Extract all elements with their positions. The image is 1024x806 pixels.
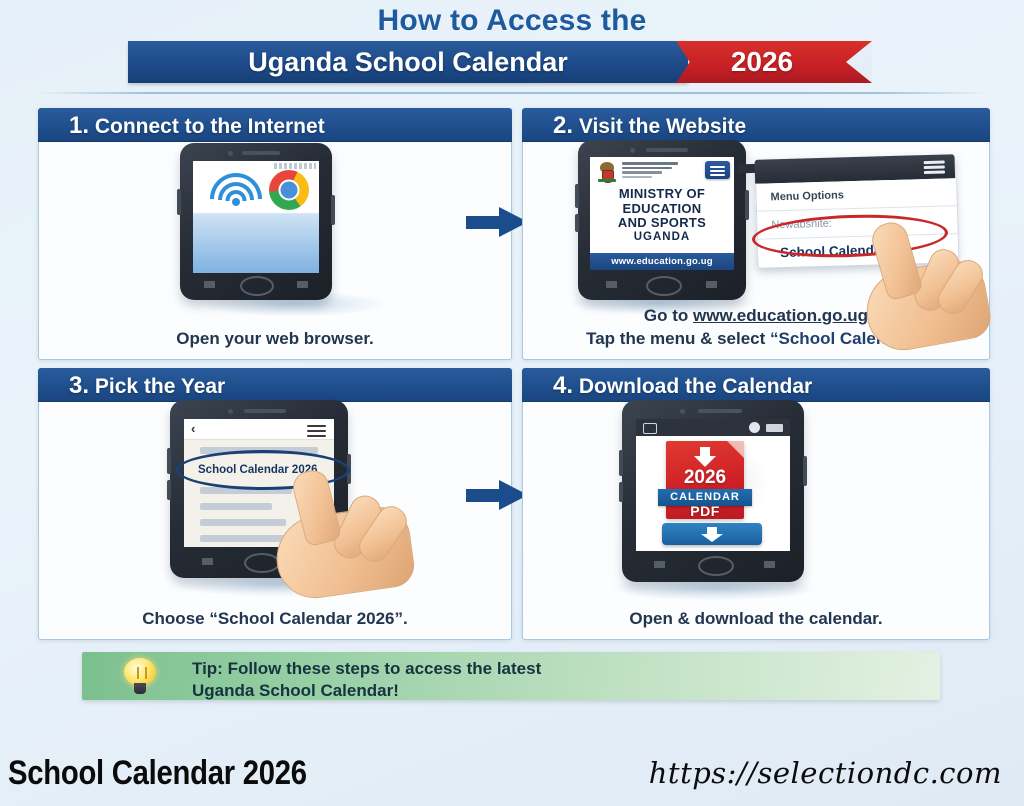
phone-back-nav-icon: [606, 281, 617, 288]
step-1-title-text: Connect to the Internet: [89, 115, 325, 138]
back-chevron-icon[interactable]: ‹: [191, 423, 195, 435]
list-placeholder-row: [200, 503, 272, 510]
phone-recent-nav-icon: [764, 561, 775, 568]
phone-power-button: [331, 195, 335, 225]
phone-camera-icon: [630, 148, 635, 153]
browser-status-bar: [636, 419, 790, 436]
caption-tap-prefix: Tap the menu & select: [586, 329, 770, 348]
step-3-caption: Choose “School Calendar 2026”.: [39, 608, 511, 631]
footer-title: School Calendar 2026: [8, 754, 307, 793]
caption-goto-prefix: Go to: [644, 306, 693, 325]
phone-1-screen: [193, 161, 319, 273]
step-1-caption: Open your web browser.: [39, 328, 511, 351]
ribbon-notch: [846, 41, 872, 83]
pdf-year-label: 2026: [666, 467, 744, 489]
step-4-title: 4. Download the Calendar: [553, 369, 812, 403]
uganda-coat-of-arms-icon: [596, 161, 618, 183]
step-4-title-text: Download the Calendar: [573, 375, 812, 398]
battery-icon: [766, 424, 783, 432]
phone-speaker: [698, 409, 742, 413]
step-4-caption: Open & download the calendar.: [523, 608, 989, 631]
phone-home-button: [240, 276, 274, 296]
infographic-canvas: How to Access the Uganda School Calendar…: [0, 0, 1024, 806]
hamburger-menu-icon[interactable]: [307, 425, 326, 440]
phone-speaker: [244, 409, 286, 413]
download-button[interactable]: [662, 523, 762, 545]
tab-square-icon: [643, 423, 657, 434]
step-2-title-text: Visit the Website: [573, 115, 746, 138]
pdf-format-label: PDF: [666, 503, 744, 519]
phone-volume-down-button: [619, 482, 623, 502]
phone-volume-button: [575, 184, 579, 208]
phone-volume-button: [177, 189, 181, 215]
pdf-file-icon[interactable]: 2026 CALENDAR PDF: [666, 441, 744, 519]
phone-volume-button: [619, 450, 623, 476]
app-top-bar: ‹: [184, 419, 334, 440]
tip-line-1: Tip: Follow these steps to access the la…: [192, 658, 928, 680]
pdf-page-fold: [727, 441, 744, 458]
pointing-hand-step-2: [860, 222, 1010, 342]
step-3-title-text: Pick the Year: [89, 375, 225, 398]
phone-camera-icon: [680, 409, 685, 414]
footer-url: https://selectiondc.com: [649, 756, 1002, 790]
header-divider: [36, 92, 988, 94]
phone-power-button: [803, 456, 807, 486]
chrome-icon: [269, 170, 309, 210]
lightbulb-icon: [122, 658, 158, 696]
phone-device-4: 2026 CALENDAR PDF: [622, 400, 804, 582]
step-1-title: 1. Connect to the Internet: [69, 109, 325, 143]
hamburger-menu-button[interactable]: [705, 161, 730, 179]
header-banner: Uganda School Calendar 2026: [128, 41, 872, 83]
header-year: 2026: [676, 41, 848, 83]
education-site-url: www.education.go.ug: [693, 306, 868, 325]
clock-icon: [749, 422, 760, 433]
pointing-hand-step-3: [272, 470, 434, 590]
phone-recent-nav-icon: [706, 281, 717, 288]
phone-camera-icon: [228, 409, 233, 414]
phone-2-screen: MINISTRY OF EDUCATION AND SPORTS UGANDA …: [590, 157, 734, 270]
phone-volume-button: [167, 448, 171, 474]
ministry-logo-text: [622, 162, 682, 180]
tip-line-2: Uganda School Calendar!: [192, 680, 928, 702]
phone-home-button: [698, 556, 734, 576]
phone-device-1: [180, 143, 332, 300]
phone-speaker: [646, 148, 688, 152]
phone-camera-icon: [228, 151, 233, 156]
ministry-line-1: MINISTRY OF: [590, 187, 734, 202]
flow-arrow-1-to-2: [466, 207, 528, 237]
step-2-number: 2.: [553, 112, 573, 139]
step-4-number: 4.: [553, 372, 573, 399]
phone-back-nav-icon: [204, 281, 215, 288]
flow-arrow-3-to-4: [466, 480, 528, 510]
step-3-title: 3. Pick the Year: [69, 369, 225, 403]
phone-back-nav-icon: [202, 558, 213, 565]
phone-home-button: [646, 276, 682, 296]
ministry-line-3: AND SPORTS: [590, 216, 734, 231]
phone-speaker: [242, 151, 280, 155]
tip-banner: Tip: Follow these steps to access the la…: [82, 652, 940, 700]
step-3-number: 3.: [69, 372, 89, 399]
phone-volume-down-button: [575, 214, 579, 232]
wifi-icon: [213, 173, 259, 207]
step-2-title: 2. Visit the Website: [553, 109, 746, 143]
site-url-bar: www.education.go.ug: [590, 253, 734, 270]
phone-4-screen: 2026 CALENDAR PDF: [636, 419, 790, 551]
step-1-number: 1.: [69, 112, 89, 139]
phone-recent-nav-icon: [297, 281, 308, 288]
phone-device-2: MINISTRY OF EDUCATION AND SPORTS UGANDA …: [578, 140, 746, 300]
download-arrow-icon: [694, 447, 716, 467]
header-line-2: Uganda School Calendar: [128, 41, 688, 83]
phone-power-button: [745, 190, 749, 220]
phone-volume-down-button: [167, 480, 171, 500]
phone-status-bar: [274, 163, 316, 169]
header-line-1: How to Access the: [0, 4, 1024, 38]
phone-back-nav-icon: [654, 561, 665, 568]
ministry-line-4: UGANDA: [590, 231, 734, 244]
page-header: How to Access the Uganda School Calendar…: [0, 0, 1024, 96]
ministry-line-2: EDUCATION: [590, 202, 734, 217]
tip-text: Tip: Follow these steps to access the la…: [192, 658, 928, 702]
ministry-heading: MINISTRY OF EDUCATION AND SPORTS UGANDA: [590, 187, 734, 244]
